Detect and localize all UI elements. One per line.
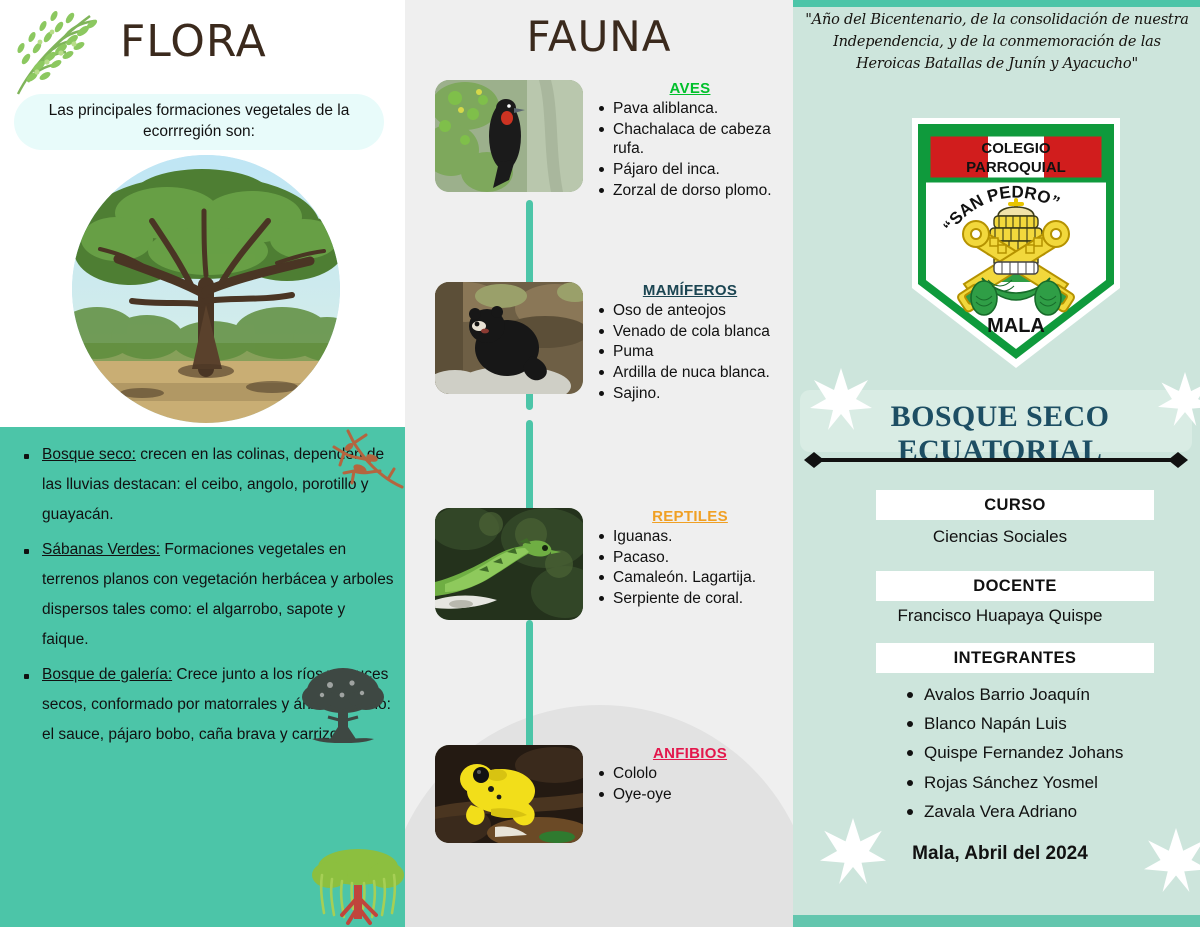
reptiles-list: Iguanas. Pacaso. Camaleón. Lagartija. Se… — [595, 527, 785, 609]
flora-callout-box: Las principales formaciones vegetales de… — [14, 94, 384, 150]
list-item: Chachalaca de cabeza rufa. — [595, 120, 785, 159]
willow-tree-icon — [312, 845, 404, 927]
fauna-column: FAUNA — [405, 0, 793, 927]
dry-branch-icon — [310, 425, 405, 505]
bear-photo — [435, 282, 583, 394]
list-item: Sajino. — [595, 384, 785, 404]
list-item: Pava aliblanca. — [595, 99, 785, 119]
flora-title: FLORA — [120, 16, 390, 67]
reptiles-text: REPTILES Iguanas. Pacaso. Camaleón. Laga… — [595, 508, 785, 620]
top-accent-strip — [793, 0, 1200, 7]
aves-text: AVES Pava aliblanca. Chachalaca de cabez… — [595, 80, 785, 201]
list-item: Ardilla de nuca blanca. — [595, 363, 785, 383]
fauna-group-aves: AVES Pava aliblanca. Chachalaca de cabez… — [435, 80, 785, 201]
fauna-group-reptiles: REPTILES Iguanas. Pacaso. Camaleón. Laga… — [435, 508, 785, 620]
reptiles-heading: REPTILES — [595, 508, 785, 525]
list-item: Serpiente de coral. — [595, 589, 785, 609]
mamiferos-list: Oso de anteojos Venado de cola blanca Pu… — [595, 301, 785, 403]
aves-list: Pava aliblanca. Chachalaca de cabeza ruf… — [595, 99, 785, 200]
anfibios-list: Cololo Oye-oye — [595, 764, 785, 804]
list-item: Sábanas Verdes: Formaciones vegetales en… — [16, 535, 394, 656]
list-item: Oso de anteojos — [595, 301, 785, 321]
anfibios-heading: ANFIBIOS — [595, 745, 785, 762]
bottom-accent-strip — [793, 915, 1200, 927]
connector-line — [526, 620, 533, 750]
list-item: Venado de cola blanca — [595, 322, 785, 342]
fauna-group-mamiferos: MAMÍFEROS Oso de anteojos Venado de cola… — [435, 282, 785, 404]
anfibios-text: ANFIBIOS Cololo Oye-oye — [595, 745, 785, 843]
flora-tree-photo — [72, 155, 340, 423]
flora-item-lead: Sábanas Verdes: — [42, 541, 160, 558]
mamiferos-heading: MAMÍFEROS — [595, 282, 785, 299]
list-item: Pacaso. — [595, 548, 785, 568]
brochure-page: FLORA Las principales formaciones vegeta… — [0, 0, 1200, 927]
fauna-title: FAUNA — [405, 12, 793, 61]
flora-callout-text: Las principales formaciones vegetales de… — [30, 101, 368, 143]
fern-leaf-icon — [4, 4, 112, 96]
list-item: Cololo — [595, 764, 785, 784]
list-item: Puma — [595, 342, 785, 362]
lema-nacional: "Año del Bicentenario, de la consolidaci… — [801, 10, 1193, 75]
iguana-photo — [435, 508, 583, 620]
mamiferos-text: MAMÍFEROS Oso de anteojos Venado de cola… — [595, 282, 785, 404]
list-item: Zorzal de dorso plomo. — [595, 181, 785, 201]
flora-item-lead: Bosque seco: — [42, 446, 136, 463]
list-item: Iguanas. — [595, 527, 785, 547]
flora-column: FLORA Las principales formaciones vegeta… — [0, 0, 405, 927]
tree-silhouette-icon — [300, 665, 386, 747]
list-item: Oye-oye — [595, 785, 785, 805]
list-item: Camaleón. Lagartija. — [595, 568, 785, 588]
bird-photo — [435, 80, 583, 192]
frog-photo — [435, 745, 583, 843]
flora-item-lead: Bosque de galería: — [42, 666, 172, 683]
list-item: Pájaro del inca. — [595, 160, 785, 180]
aves-heading: AVES — [595, 80, 785, 97]
cover-column: "Año del Bicentenario, de la consolidaci… — [793, 0, 1200, 927]
fauna-group-anfibios: ANFIBIOS Cololo Oye-oye — [435, 745, 785, 843]
